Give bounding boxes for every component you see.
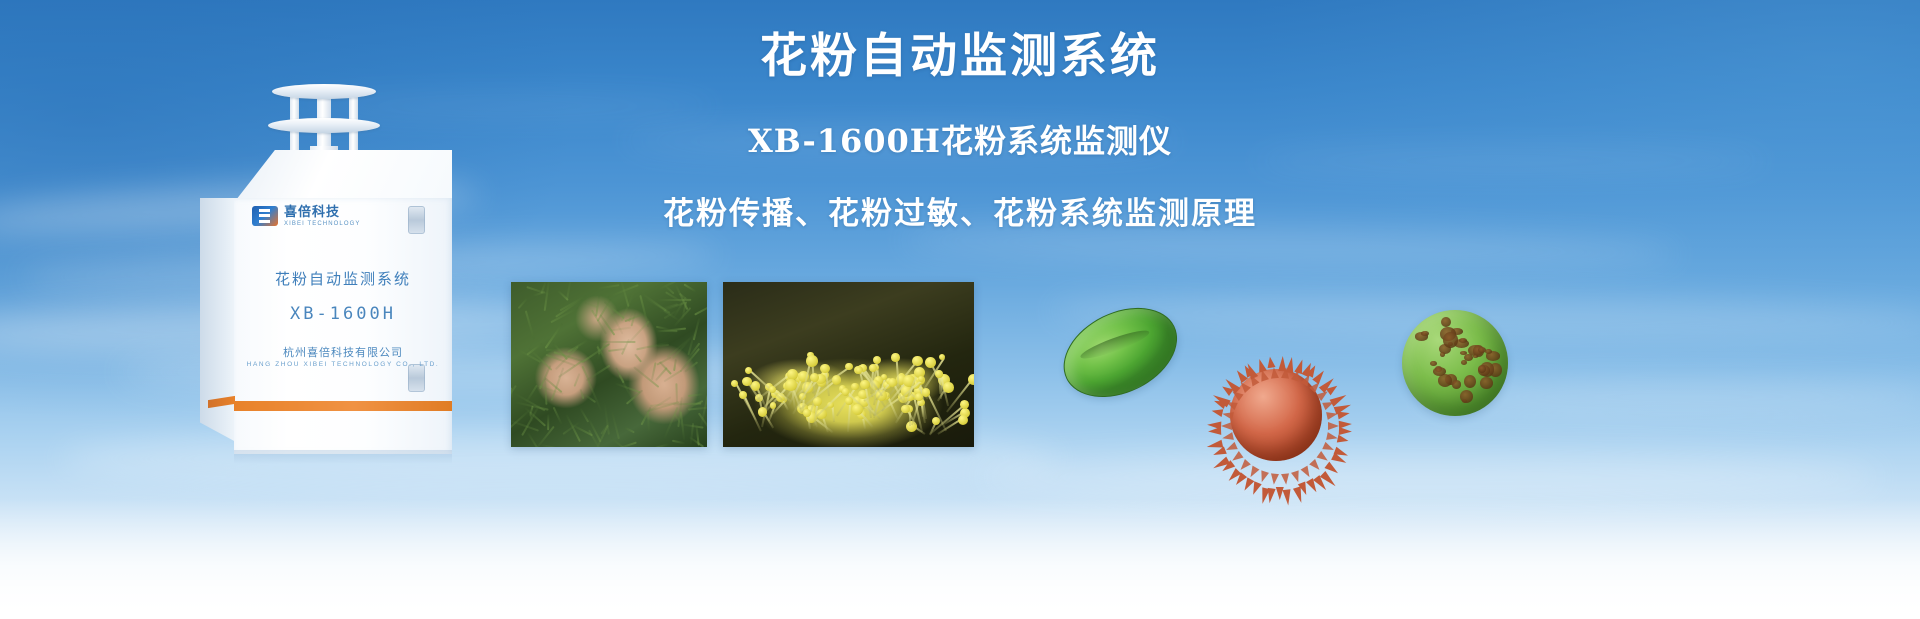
needle-detail bbox=[663, 407, 678, 439]
oval-grain-furrow bbox=[1079, 326, 1152, 363]
grain-spot bbox=[1443, 332, 1458, 347]
spiky-pollen-grain bbox=[1216, 355, 1336, 475]
needle-detail bbox=[542, 444, 570, 447]
anther-detail bbox=[958, 415, 968, 425]
grain-spike bbox=[1221, 432, 1233, 442]
topics-subtitle: 花粉传播、花粉过敏、花粉系统监测原理 bbox=[560, 188, 1360, 233]
product-model-subtitle: XB-1600H花粉系统监测仪 bbox=[560, 116, 1360, 162]
needle-detail bbox=[673, 402, 701, 405]
device-brand-lockup: 喜倍科技 XIBEI TECHNOLOGY bbox=[252, 206, 361, 227]
grain-spot bbox=[1438, 374, 1453, 387]
anther-detail bbox=[935, 370, 942, 377]
pollen-monitoring-banner: 花粉自动监测系统 XB-1600H花粉系统监测仪 花粉传播、花粉过敏、花粉系统监… bbox=[0, 0, 1920, 619]
anther-detail bbox=[925, 357, 936, 368]
filament-detail bbox=[926, 391, 947, 431]
radiation-shield-icon bbox=[268, 78, 380, 160]
needle-detail bbox=[688, 393, 704, 397]
grain-spike bbox=[1221, 422, 1232, 430]
xibei-logo-icon bbox=[252, 206, 278, 226]
anther-detail bbox=[860, 380, 869, 389]
device-title-label: 花粉自动监测系统 bbox=[234, 268, 452, 289]
grain-spot bbox=[1421, 331, 1428, 336]
needle-detail bbox=[692, 318, 700, 341]
needle-detail bbox=[595, 284, 619, 290]
anther-detail bbox=[731, 380, 738, 387]
needle-detail bbox=[588, 380, 603, 412]
grain-spike bbox=[1270, 367, 1279, 379]
anther-detail bbox=[922, 388, 931, 397]
needle-detail bbox=[694, 301, 707, 316]
anther-detail bbox=[968, 374, 974, 385]
spotted-pollen-grain bbox=[1402, 310, 1508, 416]
cedar-pollen-cones-photo bbox=[511, 282, 707, 447]
needle-detail bbox=[683, 283, 696, 292]
needle-detail bbox=[579, 389, 584, 399]
grain-spike bbox=[1326, 432, 1338, 442]
banner-text-block: 花粉自动监测系统 XB-1600H花粉系统监测仪 花粉传播、花粉过敏、花粉系统监… bbox=[560, 30, 1360, 233]
grain-spike bbox=[1283, 489, 1293, 506]
grain-spot bbox=[1452, 380, 1462, 388]
anther-detail bbox=[803, 409, 810, 416]
grain-spike bbox=[1281, 367, 1290, 379]
cabinet-base-shadow bbox=[234, 450, 452, 464]
anther-detail bbox=[806, 355, 818, 367]
anther-detail bbox=[842, 388, 849, 395]
accent-stripe bbox=[234, 401, 452, 411]
needle-detail bbox=[615, 367, 625, 383]
cabinet-latch-bottom bbox=[408, 364, 425, 392]
filament-detail bbox=[831, 406, 834, 422]
filament-detail bbox=[847, 401, 851, 432]
needle-detail bbox=[585, 302, 597, 308]
needle-detail bbox=[657, 330, 677, 332]
grain-spot bbox=[1441, 317, 1451, 327]
needle-detail bbox=[574, 373, 581, 387]
cabinet-latch-top bbox=[408, 206, 425, 234]
device-company-cn-label: 杭州喜倍科技有限公司 bbox=[234, 344, 452, 360]
needle-detail bbox=[553, 406, 563, 424]
needle-detail bbox=[547, 413, 549, 429]
anther-detail bbox=[901, 405, 909, 413]
needle-detail bbox=[648, 443, 669, 447]
shield-plate bbox=[272, 84, 376, 99]
anther-detail bbox=[751, 381, 761, 391]
page-title: 花粉自动监测系统 bbox=[560, 30, 1360, 84]
anther-detail bbox=[873, 356, 882, 365]
needle-detail bbox=[673, 359, 677, 371]
needle-detail bbox=[640, 407, 651, 426]
grain-spike bbox=[1276, 487, 1284, 500]
needle-detail bbox=[579, 407, 589, 422]
grain-spot bbox=[1464, 354, 1473, 361]
anther-detail bbox=[758, 407, 767, 416]
catkin-anthers-photo bbox=[723, 282, 974, 447]
needle-detail bbox=[672, 440, 685, 445]
anther-detail bbox=[939, 354, 945, 360]
anther-detail bbox=[769, 386, 776, 393]
grain-spike bbox=[1207, 421, 1221, 430]
anther-detail bbox=[891, 353, 900, 362]
needle-detail bbox=[647, 411, 650, 432]
needle-detail bbox=[676, 383, 679, 402]
anther-detail bbox=[960, 400, 969, 409]
anther-detail bbox=[851, 383, 858, 390]
grain-spot bbox=[1460, 390, 1473, 403]
needle-detail bbox=[566, 282, 573, 300]
anther-detail bbox=[869, 364, 877, 372]
needle-detail bbox=[544, 379, 547, 405]
needle-detail bbox=[518, 297, 529, 309]
grain-spike bbox=[1328, 422, 1339, 430]
grain-spike bbox=[1221, 410, 1233, 420]
anther-detail bbox=[820, 364, 830, 374]
anther-detail bbox=[832, 375, 841, 384]
needle-detail bbox=[567, 339, 589, 353]
spotted-grain-body bbox=[1402, 310, 1508, 416]
needle-detail bbox=[511, 388, 512, 399]
needle-detail bbox=[611, 411, 620, 439]
grain-spot bbox=[1480, 377, 1493, 388]
cabinet-front-panel bbox=[234, 198, 452, 454]
brand-name-cn: 喜倍科技 bbox=[284, 206, 361, 220]
anther-detail bbox=[856, 367, 863, 374]
anther-detail bbox=[845, 363, 852, 370]
brand-name-en: XIBEI TECHNOLOGY bbox=[284, 221, 361, 227]
needle-detail bbox=[525, 311, 535, 340]
anther-detail bbox=[912, 356, 922, 366]
needle-detail bbox=[525, 385, 538, 404]
grain-spike bbox=[1270, 473, 1279, 485]
needle-detail bbox=[634, 354, 642, 363]
grain-spot bbox=[1440, 352, 1445, 357]
grain-spot bbox=[1464, 375, 1476, 388]
anther-detail bbox=[918, 376, 924, 382]
grain-spike bbox=[1281, 473, 1290, 485]
shield-plate bbox=[268, 118, 380, 133]
device-company-en-label: HANG ZHOU XIBEI TECHNOLOGY CO., LTD. bbox=[234, 361, 452, 368]
needle-detail bbox=[625, 426, 636, 433]
device-model-label: XB-1600H bbox=[234, 304, 452, 324]
pollen-monitor-device: 喜倍科技 XIBEI TECHNOLOGY 花粉自动监测系统 XB-1600H … bbox=[196, 78, 456, 438]
grain-spot bbox=[1473, 355, 1478, 359]
anther-detail bbox=[943, 382, 954, 393]
